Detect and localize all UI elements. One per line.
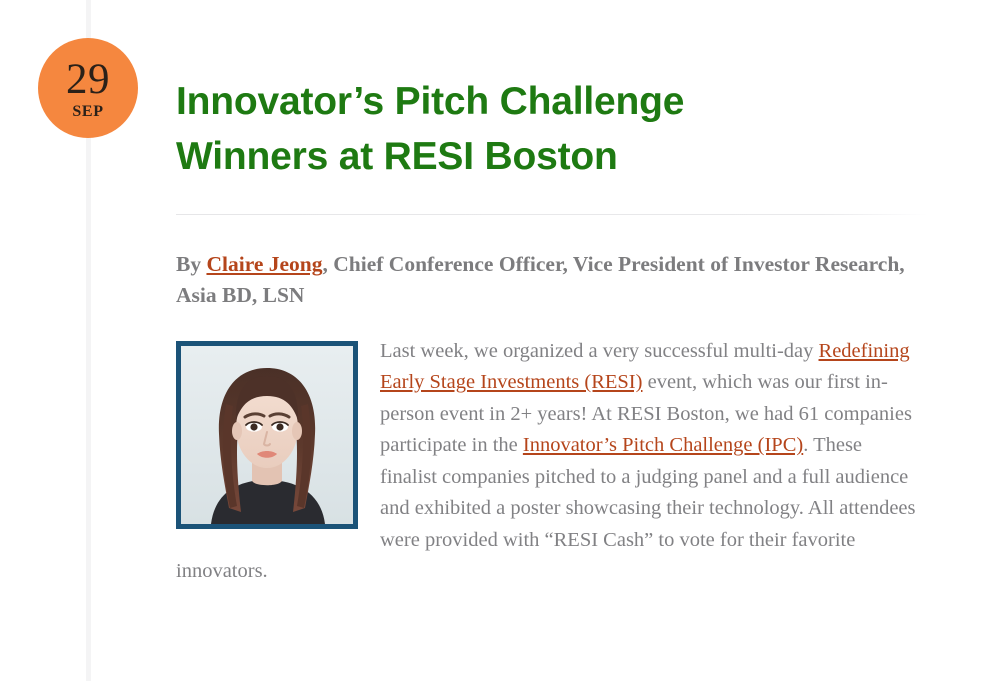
- author-photo: [176, 341, 358, 529]
- date-badge-day: 29: [66, 58, 110, 101]
- author-link[interactable]: Claire Jeong: [206, 252, 322, 276]
- byline: By Claire Jeong, Chief Conference Office…: [176, 215, 924, 312]
- blog-post-page: 29 SEP Innovator’s Pitch Challenge Winne…: [0, 0, 983, 681]
- body-seg-1: Last week, we organized a very successfu…: [380, 340, 819, 362]
- ipc-link[interactable]: Innovator’s Pitch Challenge (IPC): [523, 434, 803, 456]
- post-body: Last week, we organized a very successfu…: [176, 312, 920, 589]
- author-portrait-image: [181, 346, 353, 524]
- date-badge: 29 SEP: [38, 38, 138, 138]
- page-title: Innovator’s Pitch Challenge Winners at R…: [176, 0, 816, 185]
- date-badge-month: SEP: [72, 104, 103, 120]
- article: Innovator’s Pitch Challenge Winners at R…: [176, 0, 926, 588]
- byline-prefix: By: [176, 252, 206, 276]
